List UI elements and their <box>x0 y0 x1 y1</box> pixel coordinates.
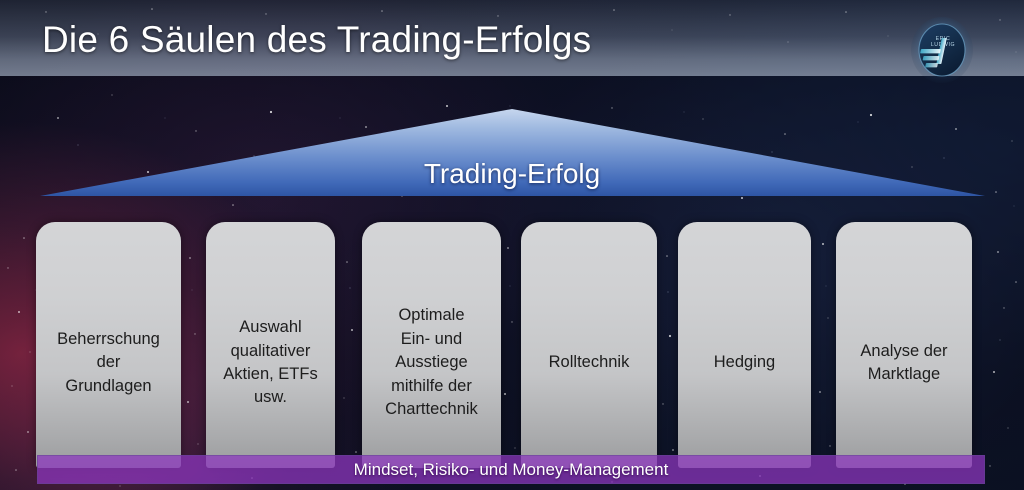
pillar-label: Rolltechnik <box>543 351 636 374</box>
foundation-bar[interactable]: Mindset, Risiko- und Money-Management <box>37 455 985 484</box>
roof-triangle <box>0 100 1024 204</box>
pillar-label: Hedging <box>708 351 781 374</box>
pillar-label: Optimale Ein- und Ausstiege mithilfe der… <box>379 304 484 421</box>
header-band: Die 6 Säulen des Trading-Erfolgs <box>0 0 1024 76</box>
pillar-rolltechnik[interactable]: Rolltechnik <box>521 222 657 468</box>
eric-ludwig-logo-icon: ERIC LUDWIG <box>910 16 974 84</box>
pillar-auswahl-qualitativer-aktien[interactable]: Auswahl qualitativer Aktien, ETFs usw. <box>206 222 335 468</box>
page-title: Die 6 Säulen des Trading-Erfolgs <box>42 19 591 61</box>
pillar-label: Analyse der Marktlage <box>854 340 953 387</box>
pillar-label: Beherrschung der Grundlagen <box>51 328 166 398</box>
pillar-optimale-ein-und-ausstiege[interactable]: Optimale Ein- und Ausstiege mithilfe der… <box>362 222 501 468</box>
pillar-analyse-der-marktlage[interactable]: Analyse der Marktlage <box>836 222 972 468</box>
pillar-beherrschung-der-grundlagen[interactable]: Beherrschung der Grundlagen <box>36 222 181 468</box>
pillar-label: Auswahl qualitativer Aktien, ETFs usw. <box>217 316 323 410</box>
slide-root: Die 6 Säulen des Trading-Erfolgs ERIC L <box>0 0 1024 490</box>
pillar-hedging[interactable]: Hedging <box>678 222 811 468</box>
foundation-label: Mindset, Risiko- und Money-Management <box>354 460 669 480</box>
